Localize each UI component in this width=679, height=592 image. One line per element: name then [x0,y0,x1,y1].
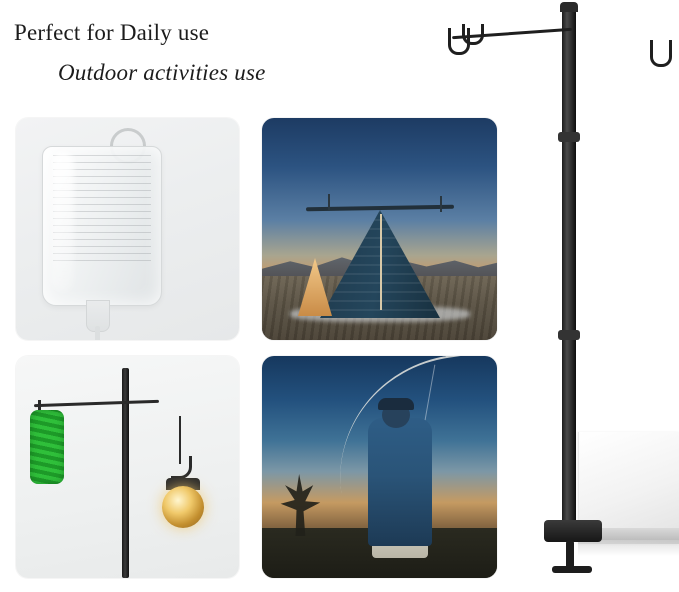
photo-camping-tent-content [262,118,497,340]
product-photo [500,0,679,592]
tent-center-line [380,214,382,310]
angler-torso [368,418,432,546]
photo-lamp-post-hanger [16,356,239,578]
photo-lamp-post-hanger-content [16,356,239,578]
table-clamp [544,520,602,542]
green-rope [30,410,64,484]
clamp-foot [552,566,592,573]
pole-joint-lower [558,330,580,340]
hook-icon-upper-right [650,40,672,67]
stand-pole [122,368,129,578]
product-pole [562,6,576,540]
photo-fishing-content [262,356,497,578]
page-subtitle: Outdoor activities use [58,60,266,86]
photo-camping-tent [262,118,497,340]
glowing-lantern [162,486,204,528]
product-infographic-page: Perfect for Daily use Outdoor activities… [0,0,679,592]
tent-pole-left [328,194,330,210]
photo-water-bag-content [16,118,239,340]
photo-fishing [262,356,497,578]
table-shadow [578,540,679,556]
hook-icon-upper-left-2 [462,24,484,45]
water-bag-highlight [52,152,74,292]
tent-pole-right [440,196,442,212]
water-bag-tube [95,326,100,340]
angler-cap [378,398,414,410]
page-title: Perfect for Daily use [14,20,209,46]
pole-joint-upper [558,132,580,142]
pole-top-cap [560,2,578,12]
photo-water-bag [16,118,239,340]
